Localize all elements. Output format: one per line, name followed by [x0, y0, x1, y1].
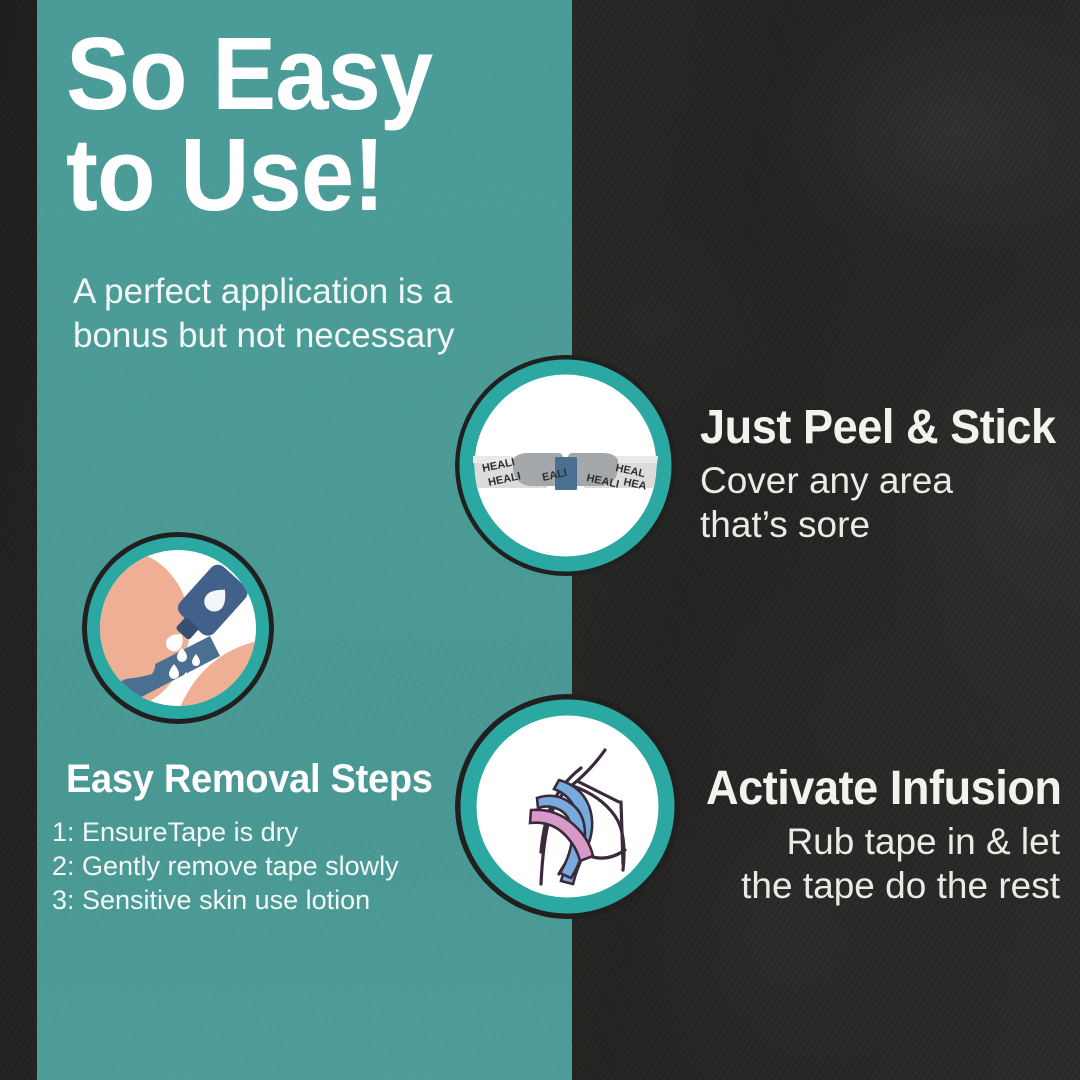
feature-body: Rub tape in & let the tape do the rest: [702, 820, 1060, 909]
lotion-bottle-dripping-on-tape-icon: [82, 532, 274, 724]
activate-infusion-icon-badge: [455, 694, 680, 919]
infographic-poster: So Easy to Use! A perfect application is…: [0, 0, 1080, 1080]
list-item: 1: EnsureTape is dry: [52, 815, 522, 849]
feature-body: Cover any area that’s sore: [700, 459, 1070, 548]
list-item: 2: Gently remove tape slowly: [52, 849, 522, 883]
peel-stick-icon-badge: HEALI HEALI EALI HEALI HEAL HEA: [455, 355, 676, 576]
page-subtitle: A perfect application is a bonus but not…: [73, 270, 543, 358]
taped-knee-icon: [455, 694, 680, 919]
page-title: So Easy to Use!: [66, 24, 503, 226]
feature-title: Activate Infusion: [706, 765, 1058, 814]
feature-block-activate-infusion: Activate Infusion Rub tape in & let the …: [706, 765, 1080, 909]
feature-block-peel-stick: Just Peel & Stick Cover any area that’s …: [700, 404, 1070, 548]
lotion-removal-icon-badge: [82, 532, 274, 724]
removal-steps-heading: Easy Removal Steps: [66, 757, 433, 802]
removal-steps-list: 1: EnsureTape is dry 2: Gently remove ta…: [52, 815, 522, 917]
feature-title: Just Peel & Stick: [700, 404, 1048, 453]
tape-peel-backing-icon: HEALI HEALI EALI HEALI HEAL HEA: [455, 355, 676, 576]
list-item: 3: Sensitive skin use lotion: [52, 883, 522, 917]
